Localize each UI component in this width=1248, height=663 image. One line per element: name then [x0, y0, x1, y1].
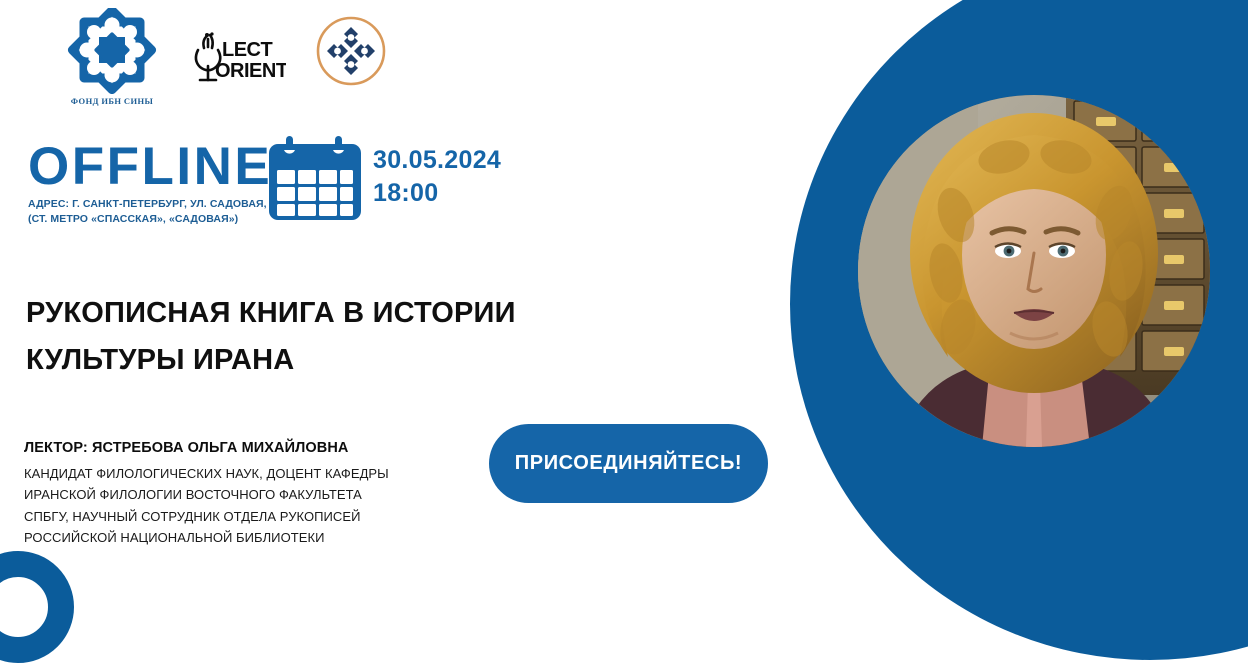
lecturer-desc-line-4: РОССИЙСКОЙ НАЦИОНАЛЬНОЙ БИБЛИОТЕКИ: [24, 527, 444, 548]
logo-lect-orient: LECT ORIENT: [190, 30, 286, 86]
join-button[interactable]: ПРИСОЕДИНЯЙТЕСЬ!: [489, 424, 768, 503]
corner-ring-decoration: [0, 551, 74, 663]
event-time: 18:00: [373, 177, 501, 210]
logo-ibn-sina-caption: ФОНД ИБН СИНЫ: [71, 96, 153, 106]
event-title: РУКОПИСНАЯ КНИГА В ИСТОРИИ КУЛЬТУРЫ ИРАН…: [26, 290, 586, 384]
logo-round-emblem: [314, 14, 388, 88]
lecturer-description: КАНДИДАТ ФИЛОЛОГИЧЕСКИХ НАУК, ДОЦЕНТ КАФ…: [24, 463, 444, 549]
event-title-line-1: РУКОПИСНАЯ КНИГА В ИСТОРИИ: [26, 290, 586, 337]
event-date: 30.05.2024: [373, 144, 501, 177]
logo-orient-text: ORIENT: [215, 60, 286, 82]
lecturer-name: ЛЕКТОР: ЯСТРЕБОВА ОЛЬГА МИХАЙЛОВНА: [24, 440, 444, 456]
lecturer-portrait: [858, 95, 1210, 447]
address-line-1: АДРЕС: Г. САНКТ-ПЕТЕРБУРГ, УЛ. САДОВАЯ, …: [28, 197, 282, 212]
schedule-block: 30.05.2024 18:00: [267, 136, 501, 222]
lecturer-desc-line-3: СПБГУ, НАУЧНЫЙ СОТРУДНИК ОТДЕЛА РУКОПИСЕ…: [24, 506, 444, 527]
lecturer-block: ЛЕКТОР: ЯСТРЕБОВА ОЛЬГА МИХАЙЛОВНА КАНДИ…: [24, 440, 444, 549]
format-block: OFFLINE АДРЕС: Г. САНКТ-ПЕТЕРБУРГ, УЛ. С…: [28, 140, 282, 227]
four-diamonds-emblem-icon: [314, 14, 388, 88]
address-line-2: (СТ. МЕТРО «СПАССКАЯ», «САДОВАЯ»): [28, 212, 282, 227]
lecturer-desc-line-1: КАНДИДАТ ФИЛОЛОГИЧЕСКИХ НАУК, ДОЦЕНТ КАФ…: [24, 463, 444, 484]
logo-lect-text: LECT: [222, 39, 273, 61]
format-title: OFFLINE: [28, 140, 282, 193]
calendar-icon: [267, 136, 363, 222]
eight-pointed-star-icon: [66, 8, 158, 94]
logo-ibn-sina-foundation: ФОНД ИБН СИНЫ: [62, 8, 162, 106]
event-title-line-2: КУЛЬТУРЫ ИРАНА: [26, 337, 586, 384]
lecturer-desc-line-2: ИРАНСКОЙ ФИЛОЛОГИИ ВОСТОЧНОГО ФАКУЛЬТЕТА: [24, 484, 444, 505]
logo-row: ФОНД ИБН СИНЫ LECT ORIENT: [62, 8, 388, 106]
